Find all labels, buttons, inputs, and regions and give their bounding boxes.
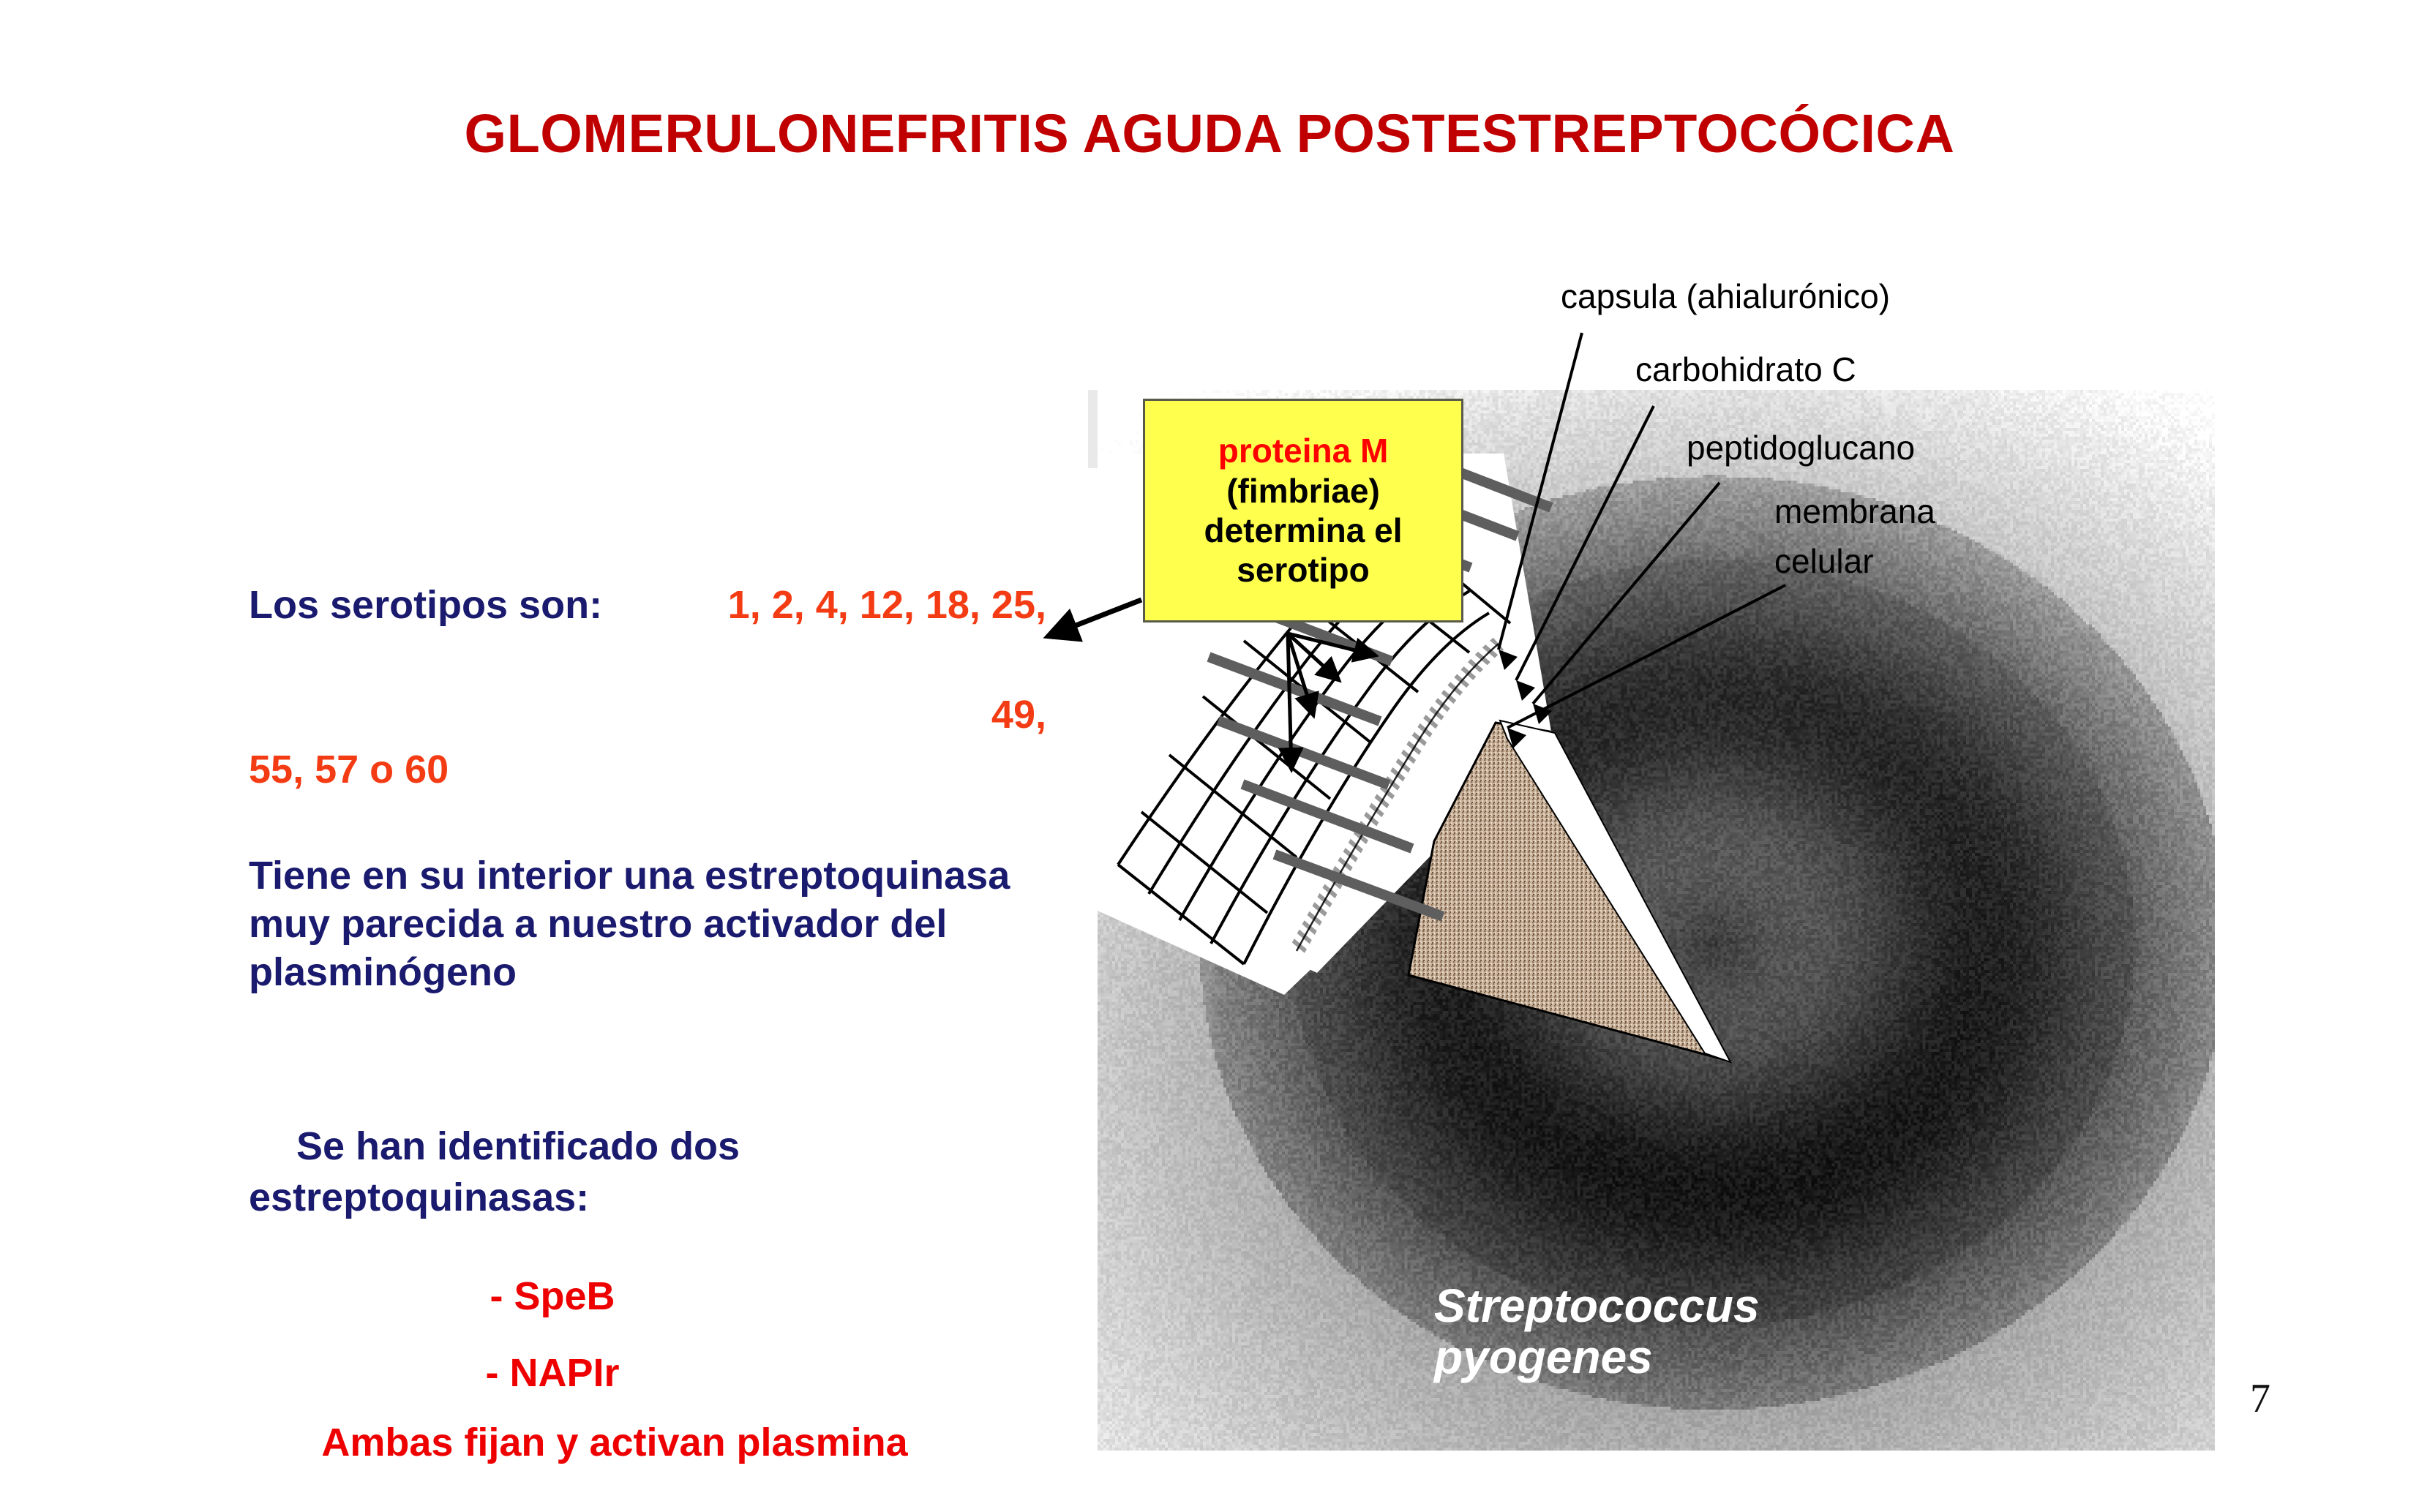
- organism-species: pyogenes: [1434, 1331, 1946, 1383]
- identified-line-1: Se han identificado dos: [296, 1123, 1094, 1171]
- callout-protein-m: proteina M (fimbriae) determina el serot…: [1143, 399, 1463, 623]
- page-number: 7: [2250, 1375, 2270, 1422]
- annotation-label-membrana: membrana: [1774, 492, 1935, 531]
- streptokinase-paragraph: Tiene en su interior una estreptoquinasa…: [249, 852, 1068, 997]
- callout-line-3: determina el: [1204, 511, 1403, 550]
- page-title: GLOMERULONEFRITIS AGUDA POSTESTREPTOCÓCI…: [0, 102, 2419, 165]
- serotypes-values-1: 1, 2, 4, 12, 18, 25,: [728, 583, 1046, 627]
- identified-line-2: estreptoquinasas:: [249, 1174, 1046, 1222]
- serotypes-line: Los serotipos son: 1, 2, 4, 12, 18, 25,: [249, 582, 1046, 630]
- annotation-label-peptidoglucano: peptidoglucano: [1687, 428, 1915, 467]
- serotypes-values-2: 49,: [249, 691, 1046, 740]
- list-item-speb: - SpeB: [249, 1273, 856, 1321]
- annotation-label-capsula: capsula (ahialurónico): [1561, 277, 1890, 316]
- organism-name: Streptococcus pyogenes: [1434, 1280, 1946, 1383]
- annotation-label-carbohidrato: carbohidrato C: [1635, 350, 1856, 389]
- serotypes-values-3: 55, 57 o 60: [249, 746, 1046, 794]
- serotypes-label: Los serotipos son:: [249, 582, 602, 630]
- callout-line-2: (fimbriae): [1226, 471, 1380, 511]
- annotation-label-membrana-celular: celular: [1774, 541, 1874, 581]
- serotypes-value-49: 49,: [991, 693, 1046, 737]
- callout-line-4: serotipo: [1237, 550, 1369, 590]
- list-item-napir: - NAPIr: [249, 1350, 856, 1398]
- serotypes-value-rest: 55, 57 o 60: [249, 748, 449, 791]
- organism-genus: Streptococcus: [1434, 1280, 1946, 1331]
- callout-highlight-text: proteina M: [1218, 431, 1389, 470]
- closing-line: Ambas fijan y activan plasmina: [249, 1419, 980, 1467]
